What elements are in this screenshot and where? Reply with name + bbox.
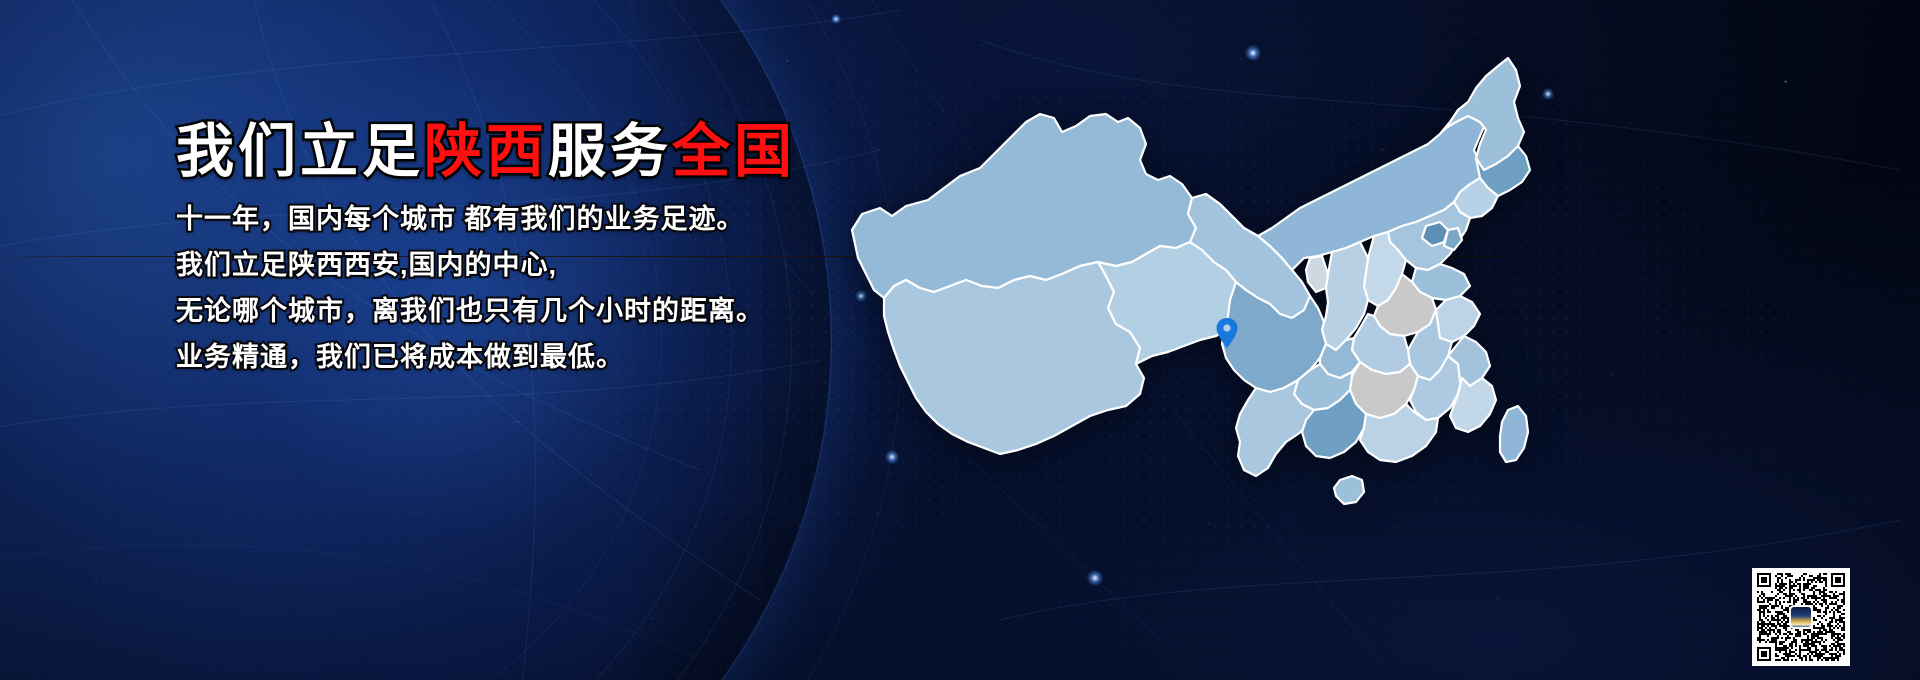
wechat-qr-code[interactable] <box>1752 568 1850 666</box>
promo-banner: 我们立足陕西服务全国 十一年，国内每个城市 都有我们的业务足迹。 我们立足陕西西… <box>0 0 1920 680</box>
china-map <box>840 18 1540 563</box>
map-region-taiwan <box>1500 406 1528 462</box>
map-region-ningxia <box>1306 256 1328 292</box>
body-line-3: 无论哪个城市，离我们也只有几个小时的距离。 <box>176 288 764 334</box>
star-flare-6 <box>1542 88 1554 100</box>
map-region-tianjin <box>1444 228 1462 250</box>
location-pin-icon <box>1216 318 1238 348</box>
star-flare-4 <box>1087 570 1103 586</box>
qr-center-logo <box>1789 605 1813 629</box>
headline-segment-1: 我们立足 <box>176 119 424 184</box>
body-line-4: 业务精通，我们已将成本做到最低。 <box>176 334 764 380</box>
headline-segment-2: 陕西 <box>424 119 548 184</box>
map-region-hainan <box>1334 476 1364 504</box>
map-region-tibet <box>884 262 1144 454</box>
body-line-2: 我们立足陕西西安,国内的中心, <box>176 242 764 288</box>
body-copy: 十一年，国内每个城市 都有我们的业务足迹。 我们立足陕西西安,国内的中心, 无论… <box>176 196 764 380</box>
page-title: 我们立足陕西服务全国 <box>176 123 796 181</box>
headline-segment-3: 服务 <box>548 119 672 184</box>
headline-segment-4: 全国 <box>672 119 796 184</box>
body-line-1: 十一年，国内每个城市 都有我们的业务足迹。 <box>176 196 764 242</box>
